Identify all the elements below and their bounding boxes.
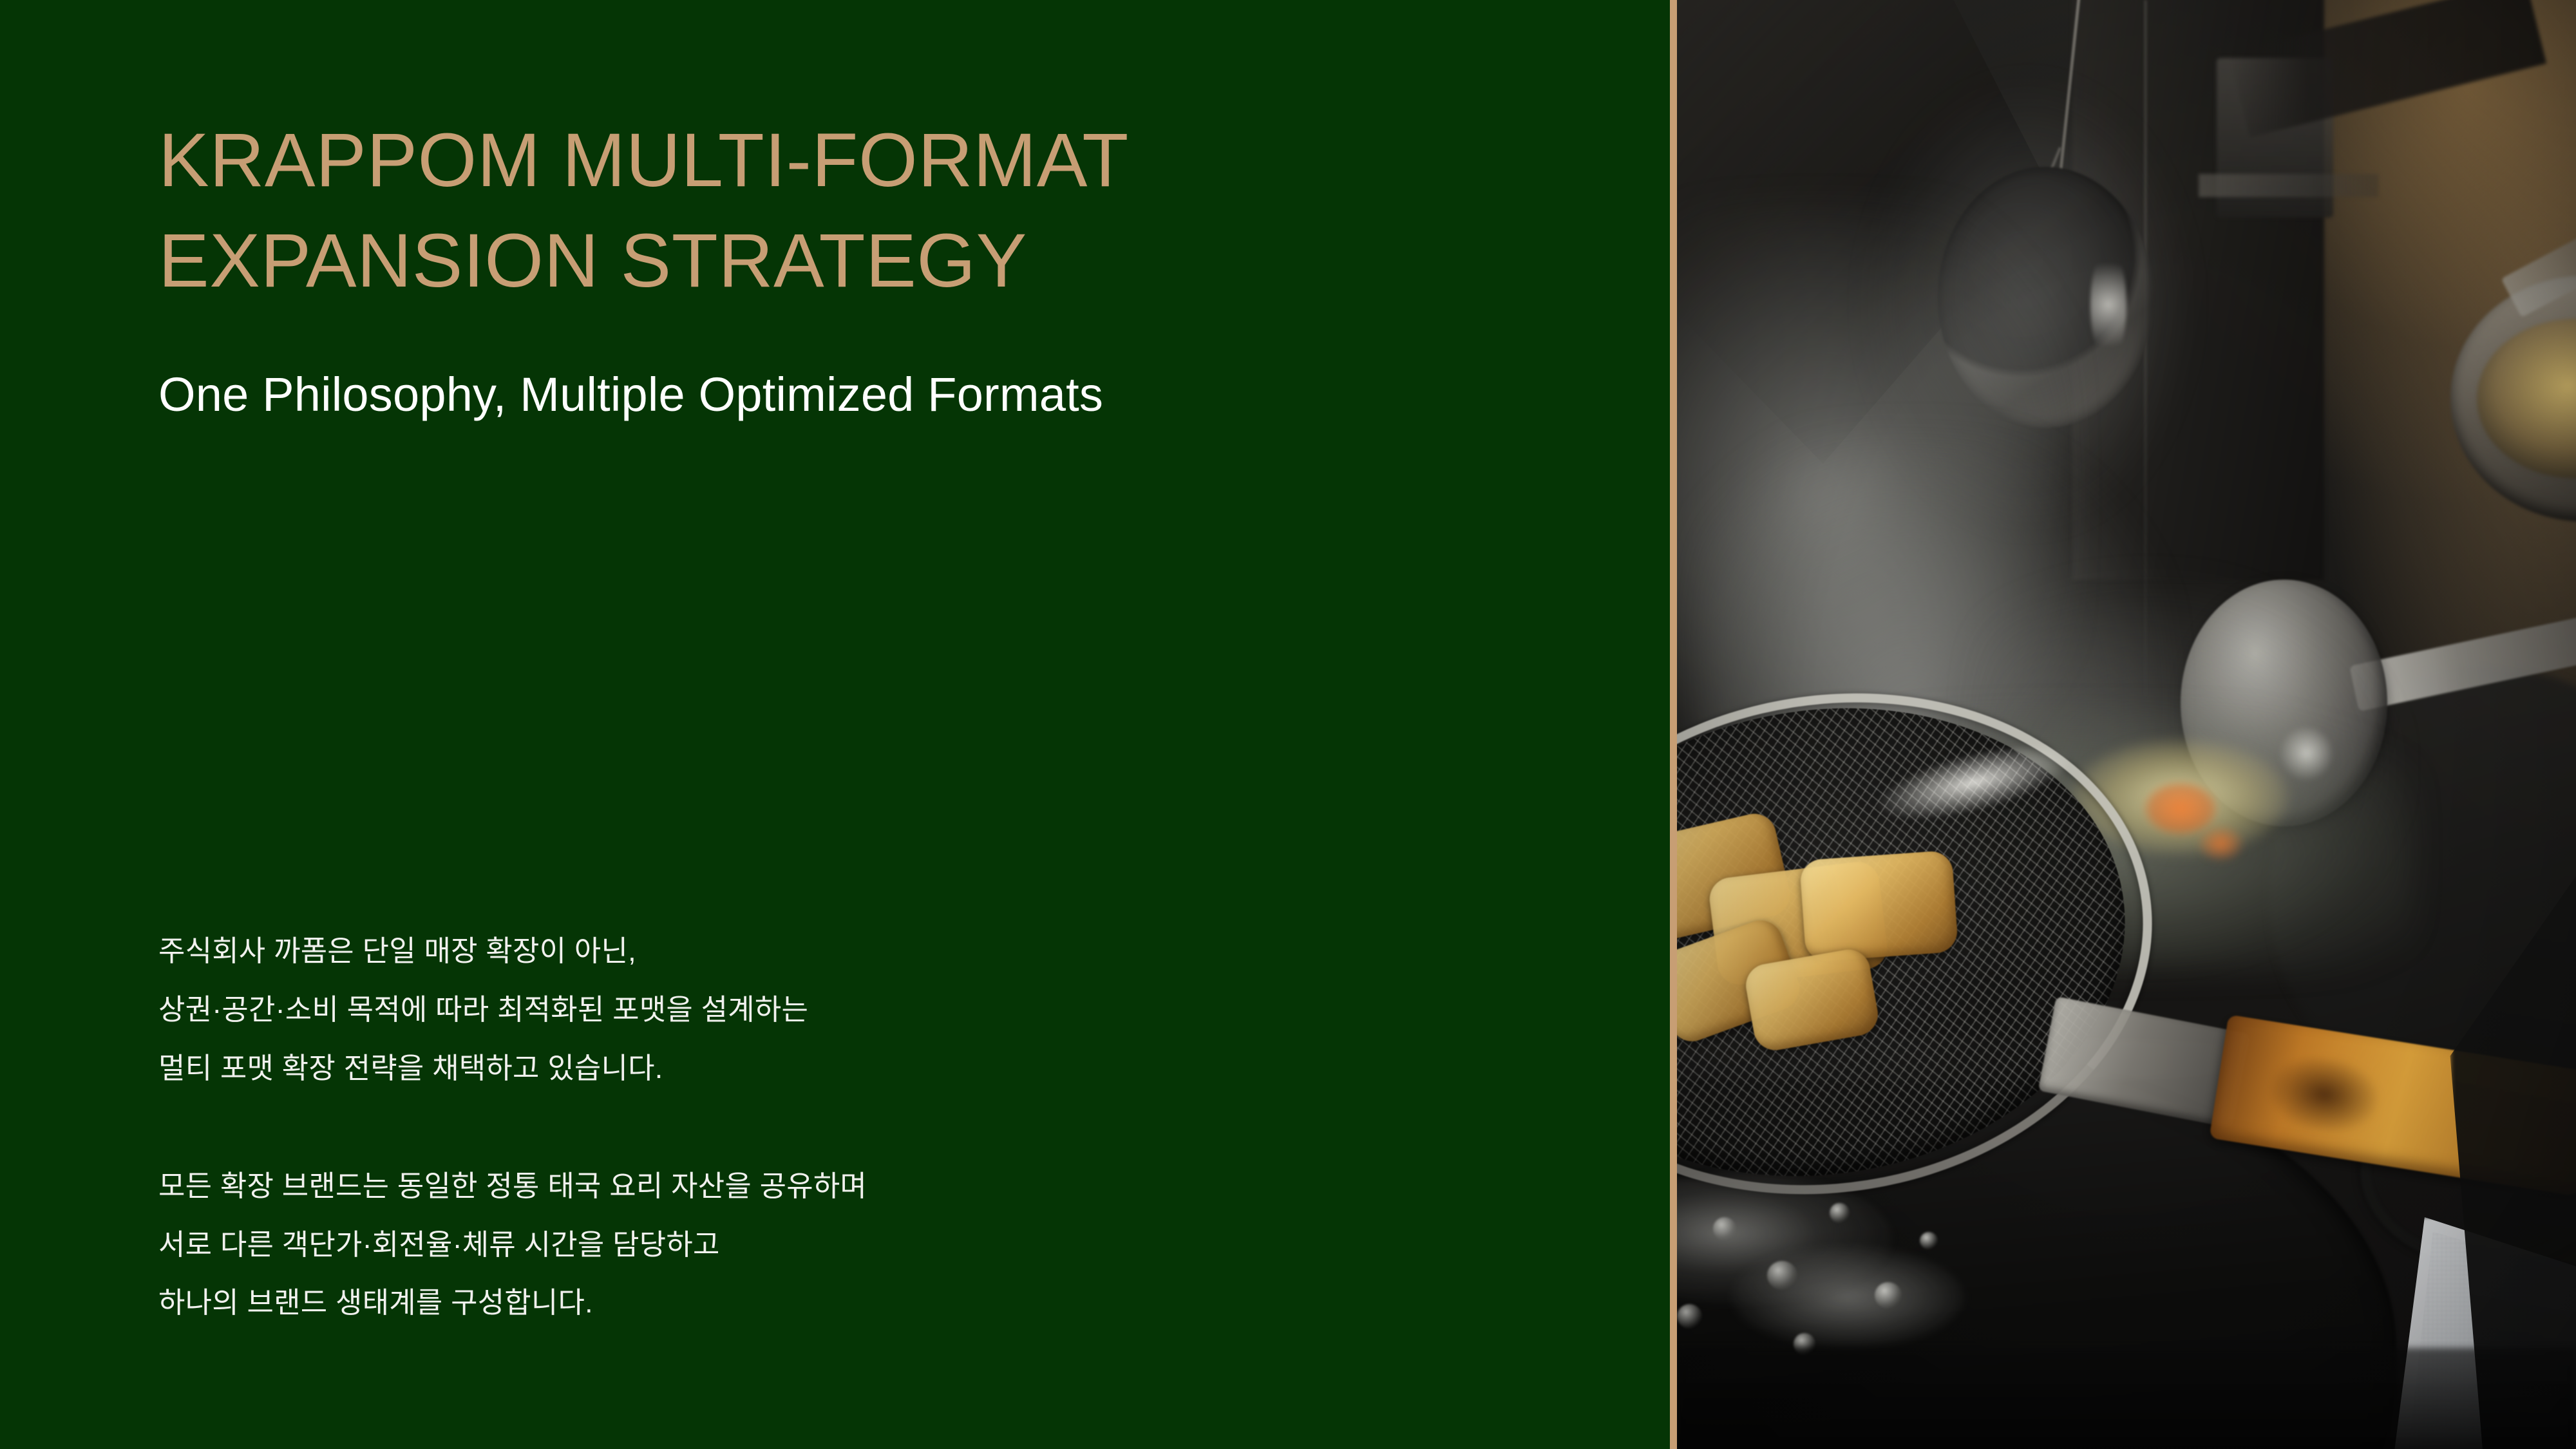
photo-spring-roll (1707, 859, 1890, 987)
presentation-slide: KRAPPOM MULTI-FORMAT EXPANSION STRATEGY … (0, 0, 2576, 1449)
photo-basket-rim-highlight (1871, 730, 2077, 835)
paragraph-2-line-2: 서로 다른 객단가·회전율·체류 시간을 담당하고 (158, 1216, 1575, 1274)
photo-oil-bubble (1713, 1217, 1736, 1240)
photo-spring-roll (1677, 809, 1795, 947)
photo-cabinet (2072, 0, 2324, 580)
photo-cabinet-edge (2145, 0, 2146, 696)
photo-wooden-handle (2209, 1014, 2576, 1197)
photo-cabinet-shelf (2199, 174, 2378, 197)
photo-wok-rim-highlight (1677, 1037, 2378, 1081)
photo-black-wok (1677, 1043, 2396, 1449)
left-content-panel: KRAPPOM MULTI-FORMAT EXPANSION STRATEGY … (0, 0, 1670, 1449)
photo-background-wall (1677, 0, 2576, 1449)
photo-hanging-pan-highlight (2090, 247, 2126, 363)
photo-pan-liquid (1731, 710, 2414, 971)
photo-hanging-strainer-pan (1938, 167, 2154, 428)
photo-oil-bubble (1794, 1333, 1815, 1355)
photo-basket-ferrule (2038, 996, 2251, 1128)
photo-cloth-weave-texture (2405, 1232, 2576, 1449)
photo-oil-shine-secondary (1731, 1246, 1965, 1348)
photo-food-in-far-pan (2072, 739, 2288, 855)
paragraph-1-line-1: 주식회사 까폼은 단일 매장 확장이 아닌, (158, 922, 1575, 981)
photo-carrot-piece-second (2199, 826, 2244, 861)
photo-handle-scorch-mark (2266, 1050, 2383, 1138)
photo-oil-shine (1677, 1174, 1893, 1305)
photo-hanging-wire (2058, 0, 2082, 188)
photo-hanging-wire-secondary (2032, 147, 2061, 215)
body-paragraph-1: 주식회사 까폼은 단일 매장 확장이 아닌, 상권·공간·소비 목적에 따라 최… (158, 922, 1575, 1098)
photo-cabinet-bracket (2217, 58, 2333, 218)
paragraph-2-line-1: 모든 확장 브랜드는 동일한 정통 태국 요리 자산을 공유하며 (158, 1157, 1575, 1216)
body-copy: 주식회사 까폼은 단일 매장 확장이 아닌, 상권·공간·소비 목적에 따라 최… (158, 922, 1575, 1332)
photo-spring-roll (1799, 849, 1959, 961)
photo-vignette (1677, 0, 2576, 1449)
photo-oil-bubble (1920, 1232, 1938, 1249)
photo-far-pan-handle (2501, 220, 2576, 317)
photo-mesh-frying-basket (1677, 665, 2159, 1219)
photo-spring-roll (1742, 946, 1881, 1054)
photo-oil-bubble (1677, 1304, 1702, 1329)
photo-oil-bubble (1875, 1282, 1902, 1309)
photo-far-pan (2450, 276, 2576, 522)
slide-subtitle: One Philosophy, Multiple Optimized Forma… (158, 364, 1607, 426)
photo-far-wok (2270, 667, 2576, 1101)
photo-spring-roll (1677, 914, 1806, 1048)
kitchen-photo (1677, 0, 2576, 1449)
body-paragraph-2: 모든 확장 브랜드는 동일한 정통 태국 요리 자산을 공유하며 서로 다른 객… (158, 1157, 1575, 1333)
paragraph-1-line-3: 멀티 포맷 확장 전략을 채택하고 있습니다. (158, 1039, 1575, 1098)
photo-wok-handle-ring (2360, 1072, 2576, 1267)
paragraph-2-line-3: 하나의 브랜드 생태계를 구성합니다. (158, 1274, 1575, 1332)
photo-far-pan-contents (2477, 319, 2576, 478)
photo-white-cloth (2387, 1217, 2576, 1449)
photo-carrot-piece (2145, 782, 2217, 835)
photo-shelf-rail (2228, 0, 2546, 137)
photo-foreground-shadow (2450, 869, 2576, 1449)
photo-oil-bubble (1767, 1261, 1797, 1290)
photo-ladle-highlight (2279, 724, 2333, 782)
photo-basket-rim (1677, 648, 2188, 1239)
photo-ladle-handle (2349, 610, 2576, 711)
photo-steam-cloud-right (1983, 580, 2396, 956)
photo-steam-cloud-mid (1695, 435, 2163, 956)
photo-steam-cloud-left (1677, 203, 2072, 782)
slide-title: KRAPPOM MULTI-FORMAT EXPANSION STRATEGY (158, 111, 1575, 312)
photo-vent-hood (1677, 0, 2054, 464)
vertical-accent-divider (1670, 0, 1677, 1449)
photo-ladle-bowl (2181, 580, 2387, 826)
photo-oil-bubble (1830, 1203, 1850, 1224)
paragraph-1-line-2: 상권·공간·소비 목적에 따라 최적화된 포맷을 설계하는 (158, 981, 1575, 1039)
photo-stove-shelf-band (1677, 1348, 2576, 1449)
photo-steam-cloud-upper (1875, 87, 2181, 522)
